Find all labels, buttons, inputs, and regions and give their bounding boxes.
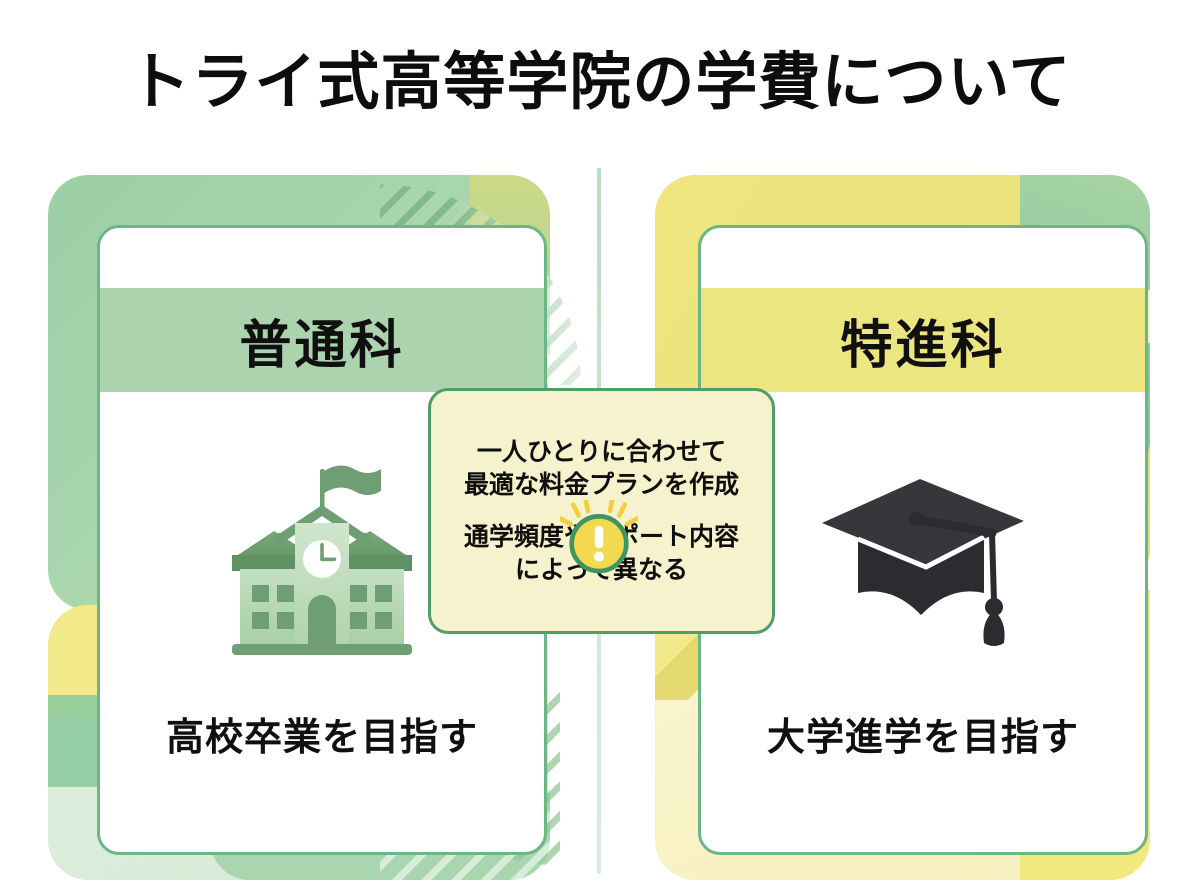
graduation-cap-icon xyxy=(816,461,1031,656)
exclamation-badge-icon xyxy=(560,500,638,578)
comparison-diagram: 普通科 xyxy=(0,150,1200,896)
school-building-icon xyxy=(222,451,422,666)
card-caption-futsuka: 高校卒業を目指す xyxy=(100,706,544,761)
page-title: トライ式高等学院の学費について xyxy=(0,48,1200,116)
card-band-label-futsuka: 普通科 xyxy=(239,303,404,378)
callout-line-2: 最適な料金プランを作成 xyxy=(464,469,739,502)
callout-paragraph-1: 一人ひとりに合わせて 最適な料金プランを作成 xyxy=(464,436,739,501)
card-band-futsuka: 普通科 xyxy=(100,288,544,392)
card-band-label-tokushinka: 特進科 xyxy=(840,303,1005,378)
callout-line-1: 一人ひとりに合わせて xyxy=(464,436,739,469)
card-caption-tokushinka: 大学進学を目指す xyxy=(701,706,1145,761)
card-band-tokushinka: 特進科 xyxy=(701,288,1145,392)
